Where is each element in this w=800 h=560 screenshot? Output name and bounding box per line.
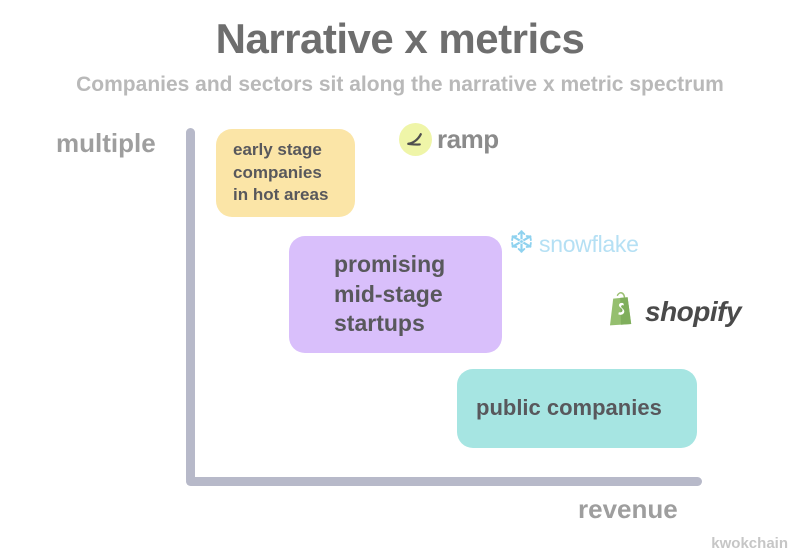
y-axis-line bbox=[186, 128, 195, 484]
x-axis-label: revenue bbox=[578, 494, 678, 525]
ramp-icon bbox=[399, 123, 432, 156]
region-early-stage-label: early stage companies in hot areas bbox=[233, 139, 328, 207]
logo-ramp-label: ramp bbox=[437, 124, 499, 155]
logo-snowflake-label: snowflake bbox=[539, 231, 639, 258]
chart-canvas: Narrative x metrics Companies and sector… bbox=[0, 0, 800, 560]
watermark: kwokchain bbox=[711, 535, 788, 552]
snowflake-icon bbox=[508, 228, 535, 260]
logo-shopify-label: shopify bbox=[645, 296, 741, 328]
y-axis-label: multiple bbox=[56, 128, 156, 159]
logo-snowflake[interactable]: snowflake bbox=[508, 228, 639, 260]
page-title: Narrative x metrics bbox=[0, 16, 800, 62]
region-early-stage[interactable]: early stage companies in hot areas bbox=[216, 129, 355, 217]
x-axis-line bbox=[186, 477, 702, 486]
logo-ramp[interactable]: ramp bbox=[399, 123, 499, 156]
region-public-companies-label: public companies bbox=[476, 395, 662, 421]
shopify-bag-icon bbox=[606, 291, 637, 332]
region-public-companies[interactable]: public companies bbox=[457, 369, 697, 448]
region-mid-stage-label: promising mid-stage startups bbox=[334, 250, 445, 338]
logo-shopify[interactable]: shopify bbox=[606, 291, 741, 332]
region-mid-stage[interactable]: promising mid-stage startups bbox=[289, 236, 502, 353]
page-subtitle: Companies and sectors sit along the narr… bbox=[0, 72, 800, 97]
